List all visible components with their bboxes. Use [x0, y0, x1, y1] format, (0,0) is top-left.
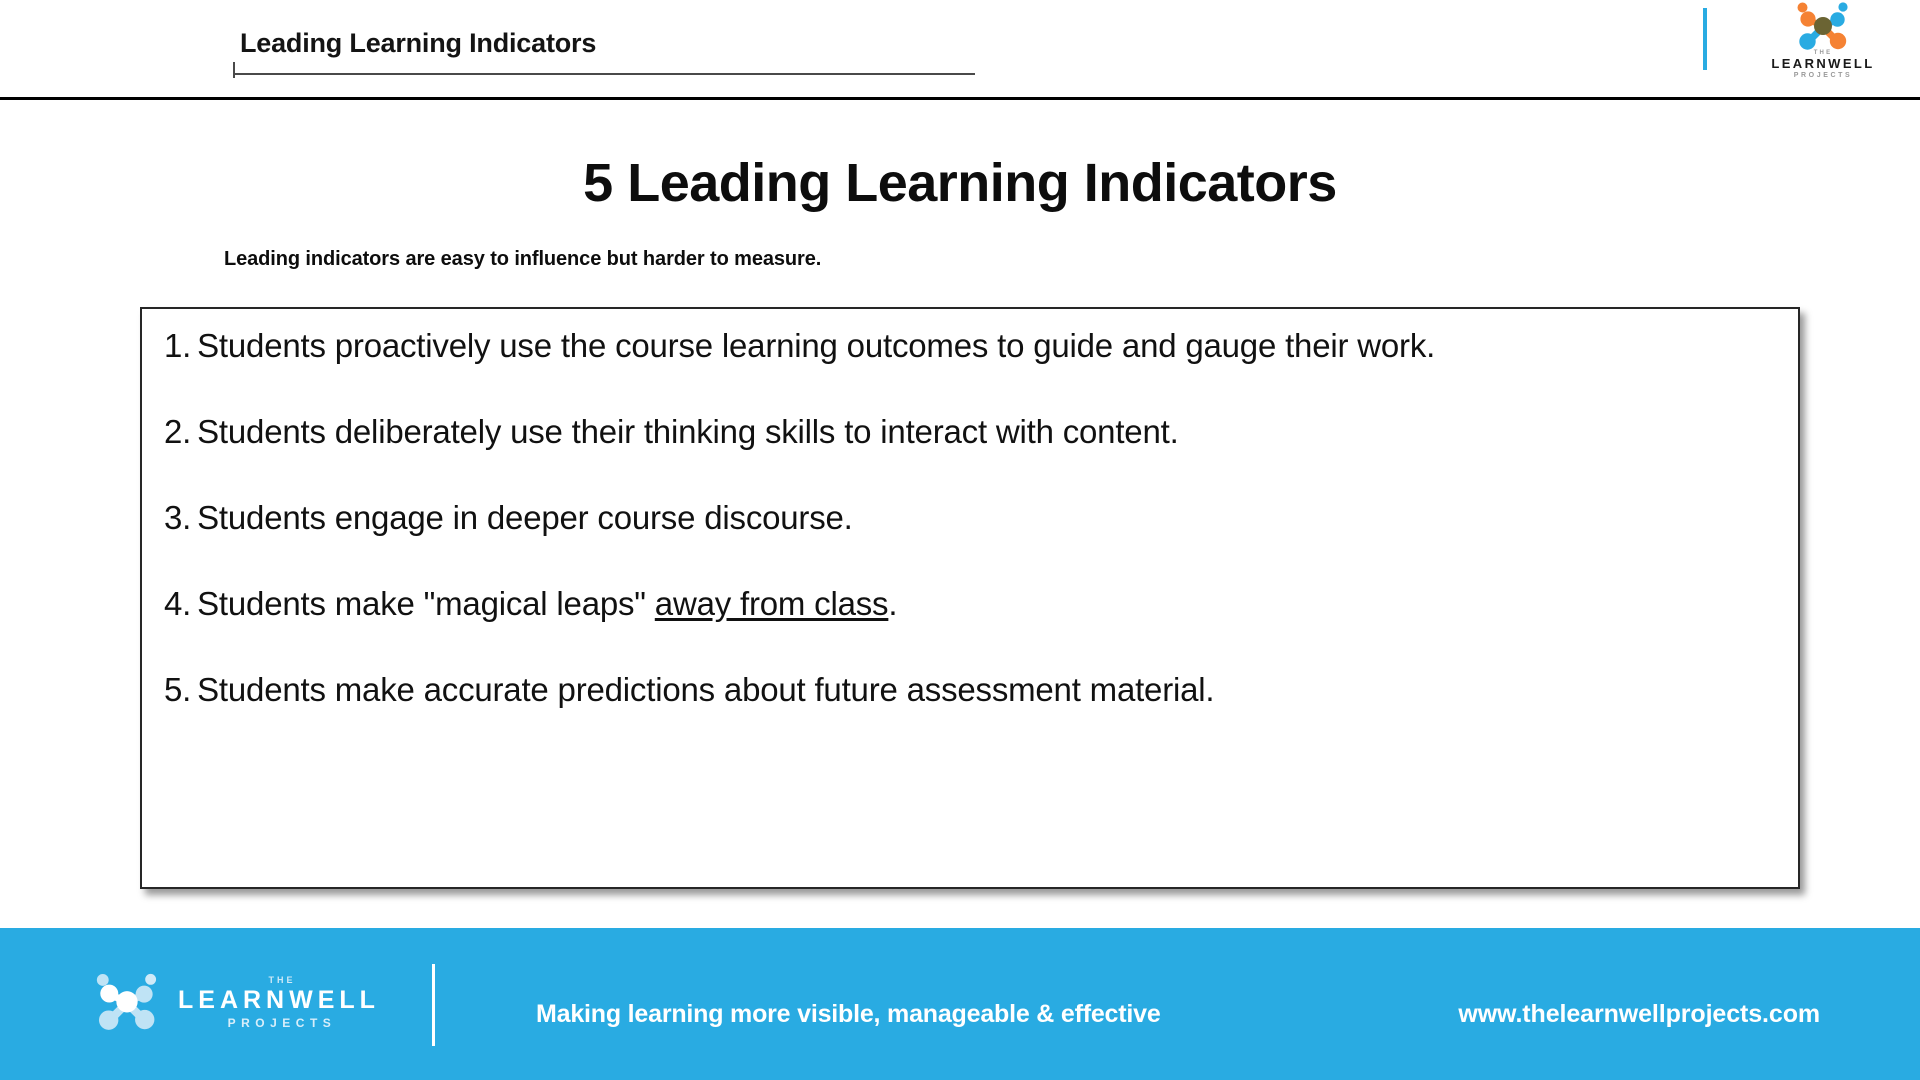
list-item: 1.Students proactively use the course le…: [164, 327, 1782, 365]
header-rule-tick: [233, 62, 235, 78]
header-logo-wordmark: THE LEARNWELL PROJECTS: [1768, 50, 1878, 79]
list-item-text: Students make accurate predictions about…: [197, 671, 1214, 708]
list-item: 4.Students make "magical leaps" away fro…: [164, 585, 1782, 623]
logo-learnwell-text: LEARNWELL: [1768, 57, 1878, 70]
page-title: 5 Leading Learning Indicators: [0, 152, 1920, 214]
logo-projects-text: PROJECTS: [1768, 72, 1878, 79]
header-title: Leading Learning Indicators: [240, 28, 596, 59]
footer-vertical-divider: [432, 964, 435, 1046]
page-subtitle: Leading indicators are easy to influence…: [224, 248, 821, 271]
footer-logo: THE LEARNWELL PROJECTS: [88, 962, 368, 1046]
footer-logo-wordmark: THE LEARNWELL PROJECTS: [178, 976, 380, 1029]
learnwell-logo-icon: [1790, 2, 1856, 52]
list-item-number: 5.: [164, 671, 191, 708]
header-rule: [233, 73, 975, 75]
list-item-number: 1.: [164, 327, 191, 364]
list-item: 5.Students make accurate predictions abo…: [164, 671, 1782, 709]
list-item-number: 3.: [164, 499, 191, 536]
list-item: 3.Students engage in deeper course disco…: [164, 499, 1782, 537]
header-vertical-divider: [1703, 8, 1707, 70]
list-item-text-end: .: [888, 585, 897, 622]
list-item-text: Students proactively use the course lear…: [197, 327, 1435, 364]
list-item-emphasis: away from class: [655, 585, 889, 622]
list-item-text: Students make "magical leaps": [197, 585, 655, 622]
header-logo: THE LEARNWELL PROJECTS: [1768, 2, 1878, 82]
list-item: 2.Students deliberately use their thinki…: [164, 413, 1782, 451]
logo-learnwell-text: LEARNWELL: [178, 988, 380, 1013]
list-item-text: Students deliberately use their thinking…: [197, 413, 1178, 450]
footer-tagline: Making learning more visible, manageable…: [536, 1000, 1161, 1029]
indicator-list: 1.Students proactively use the course le…: [164, 327, 1782, 709]
footer-website-url[interactable]: www.thelearnwellprojects.com: [1458, 1000, 1820, 1029]
list-item-number: 4.: [164, 585, 191, 622]
indicators-content-box: 1.Students proactively use the course le…: [140, 307, 1800, 889]
learnwell-logo-icon: [88, 964, 166, 1042]
list-item-number: 2.: [164, 413, 191, 450]
logo-projects-text: PROJECTS: [178, 1017, 380, 1029]
slide-header: Leading Learning Indicators THE LEARNW: [0, 0, 1920, 100]
logo-the-text: THE: [178, 976, 380, 985]
list-item-text: Students engage in deeper course discour…: [197, 499, 853, 536]
